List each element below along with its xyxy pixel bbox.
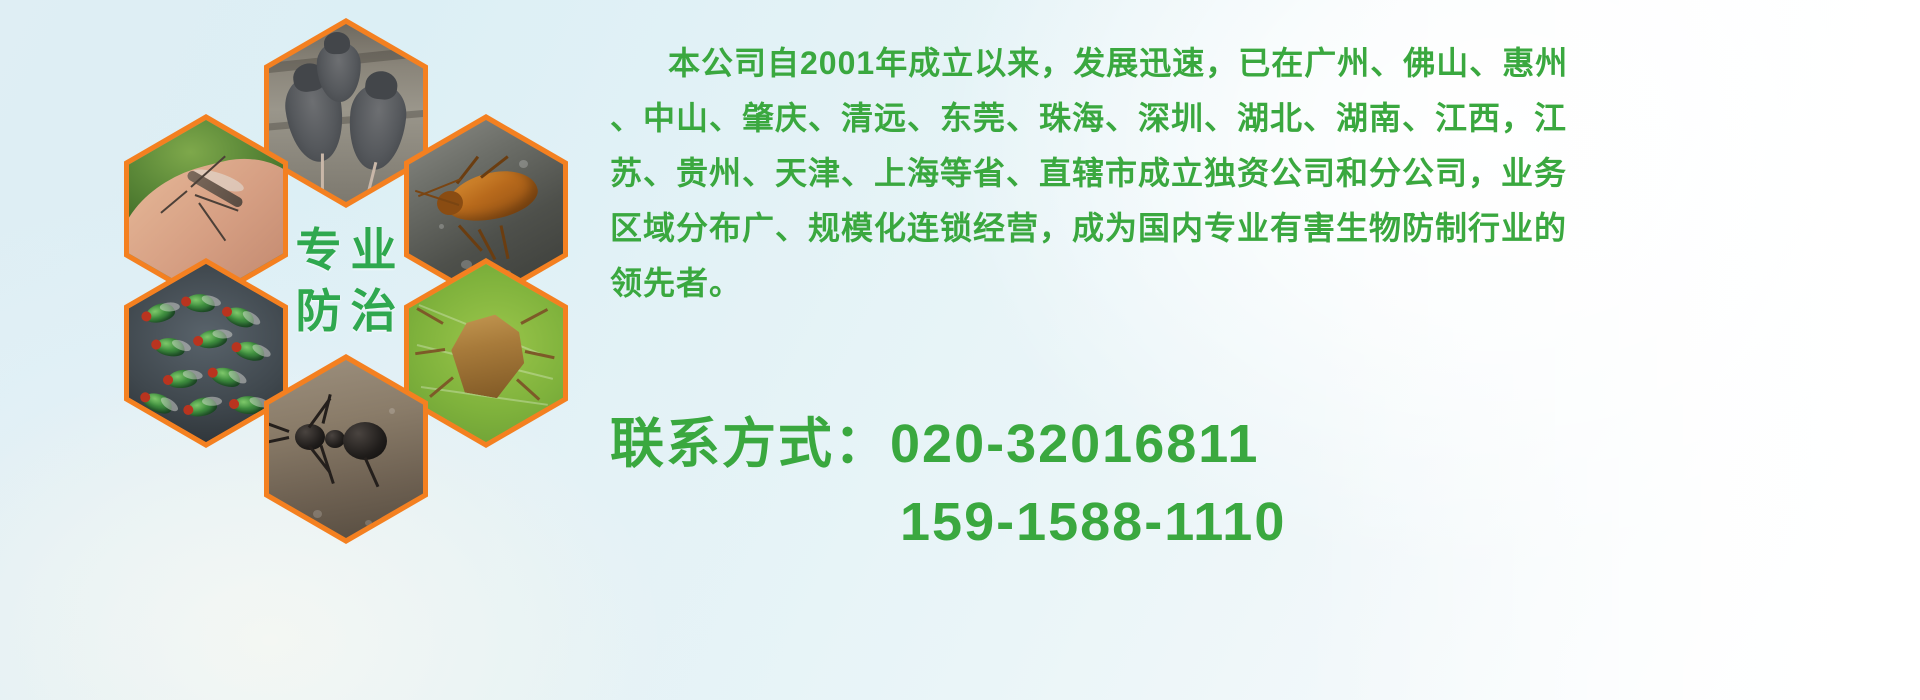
honeycomb-collage: 专业 防治 (96, 10, 596, 570)
rats-photo (269, 24, 423, 202)
flies-photo (129, 264, 283, 442)
hex-cell-ant-photo (264, 354, 428, 544)
badge-professional-control: 专业 防治 (264, 186, 428, 376)
ant-photo (269, 360, 423, 538)
contact-block: 联系方式：020-32016811 159-1588-1110 (610, 405, 1890, 561)
contact-phone-primary[interactable]: 联系方式：020-32016811 (610, 405, 1890, 483)
contact-phone-secondary[interactable]: 159-1588-1110 (610, 483, 1890, 561)
hex-cell-rats-photo (264, 18, 428, 208)
description-line-5: 领先者。 (610, 256, 1890, 311)
badge-line-1: 专业 (287, 220, 406, 281)
company-description: 本公司自2001年成立以来，发展迅速，已在广州、佛山、惠州 、中山、肇庆、清远、… (610, 36, 1890, 311)
badge-line-2: 防治 (287, 281, 406, 342)
stinkbug-photo (409, 264, 563, 442)
hex-cell-stinkbug-photo (404, 258, 568, 448)
promo-banner: 专业 防治 本公司自2001年成立以来，发展迅速，已在广州、佛山、惠州 、中山、… (0, 0, 1920, 700)
description-line-1: 本公司自2001年成立以来，发展迅速，已在广州、佛山、惠州 (610, 36, 1890, 91)
description-line-2: 、中山、肇庆、清远、东莞、珠海、深圳、湖北、湖南、江西，江 (610, 91, 1890, 146)
description-line-3: 苏、贵州、天津、上海等省、直辖市成立独资公司和分公司，业务 (610, 146, 1890, 201)
description-line-4: 区域分布广、规模化连锁经营，成为国内专业有害生物防制行业的 (610, 201, 1890, 256)
